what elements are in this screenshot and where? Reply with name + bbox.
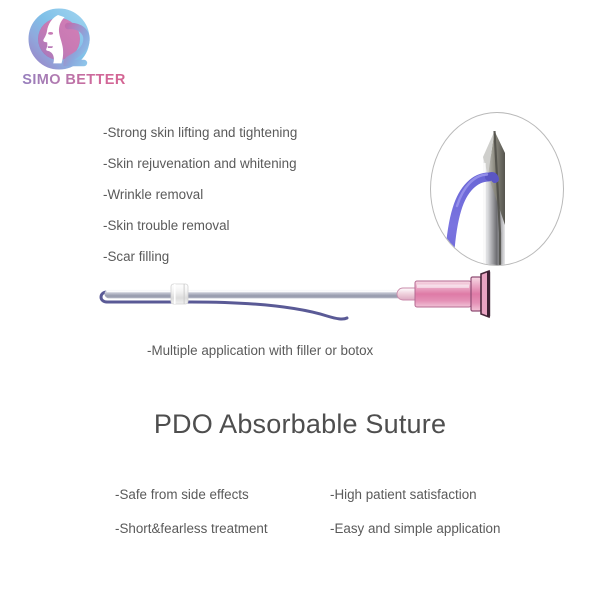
feature-item: -Skin rejuvenation and whitening <box>103 157 403 170</box>
face-profile-circle-logo-icon <box>28 6 98 72</box>
pdo-thread-cannula-with-luer-hub-icon <box>95 262 535 334</box>
brand-logo: SIMO BETTER <box>14 6 134 96</box>
brand-wordmark: SIMO BETTER <box>14 72 134 88</box>
benefits-left-column: -Safe from side effects -Short&fearless … <box>115 488 268 557</box>
benefit-item: -Safe from side effects <box>115 488 268 501</box>
feature-item: -Strong skin lifting and tightening <box>103 126 403 139</box>
product-marketing-image: SIMO BETTER -Strong skin lifting and tig… <box>0 0 600 600</box>
feature-item: -Wrinkle removal <box>103 188 403 201</box>
benefit-item: -High patient satisfaction <box>330 488 500 501</box>
device-caption: -Multiple application with filler or bot… <box>147 343 373 358</box>
benefits-right-column: -High patient satisfaction -Easy and sim… <box>330 488 500 557</box>
benefit-item: -Short&fearless treatment <box>115 522 268 535</box>
feature-item: -Skin trouble removal <box>103 219 403 232</box>
benefit-item: -Easy and simple application <box>330 522 500 535</box>
needle-tip-closeup-magnifier-icon <box>430 112 564 266</box>
feature-list: -Strong skin lifting and tightening -Ski… <box>103 126 403 281</box>
benefits-section: -Safe from side effects -Short&fearless … <box>0 488 600 548</box>
page-title: PDO Absorbable Suture <box>0 409 600 440</box>
